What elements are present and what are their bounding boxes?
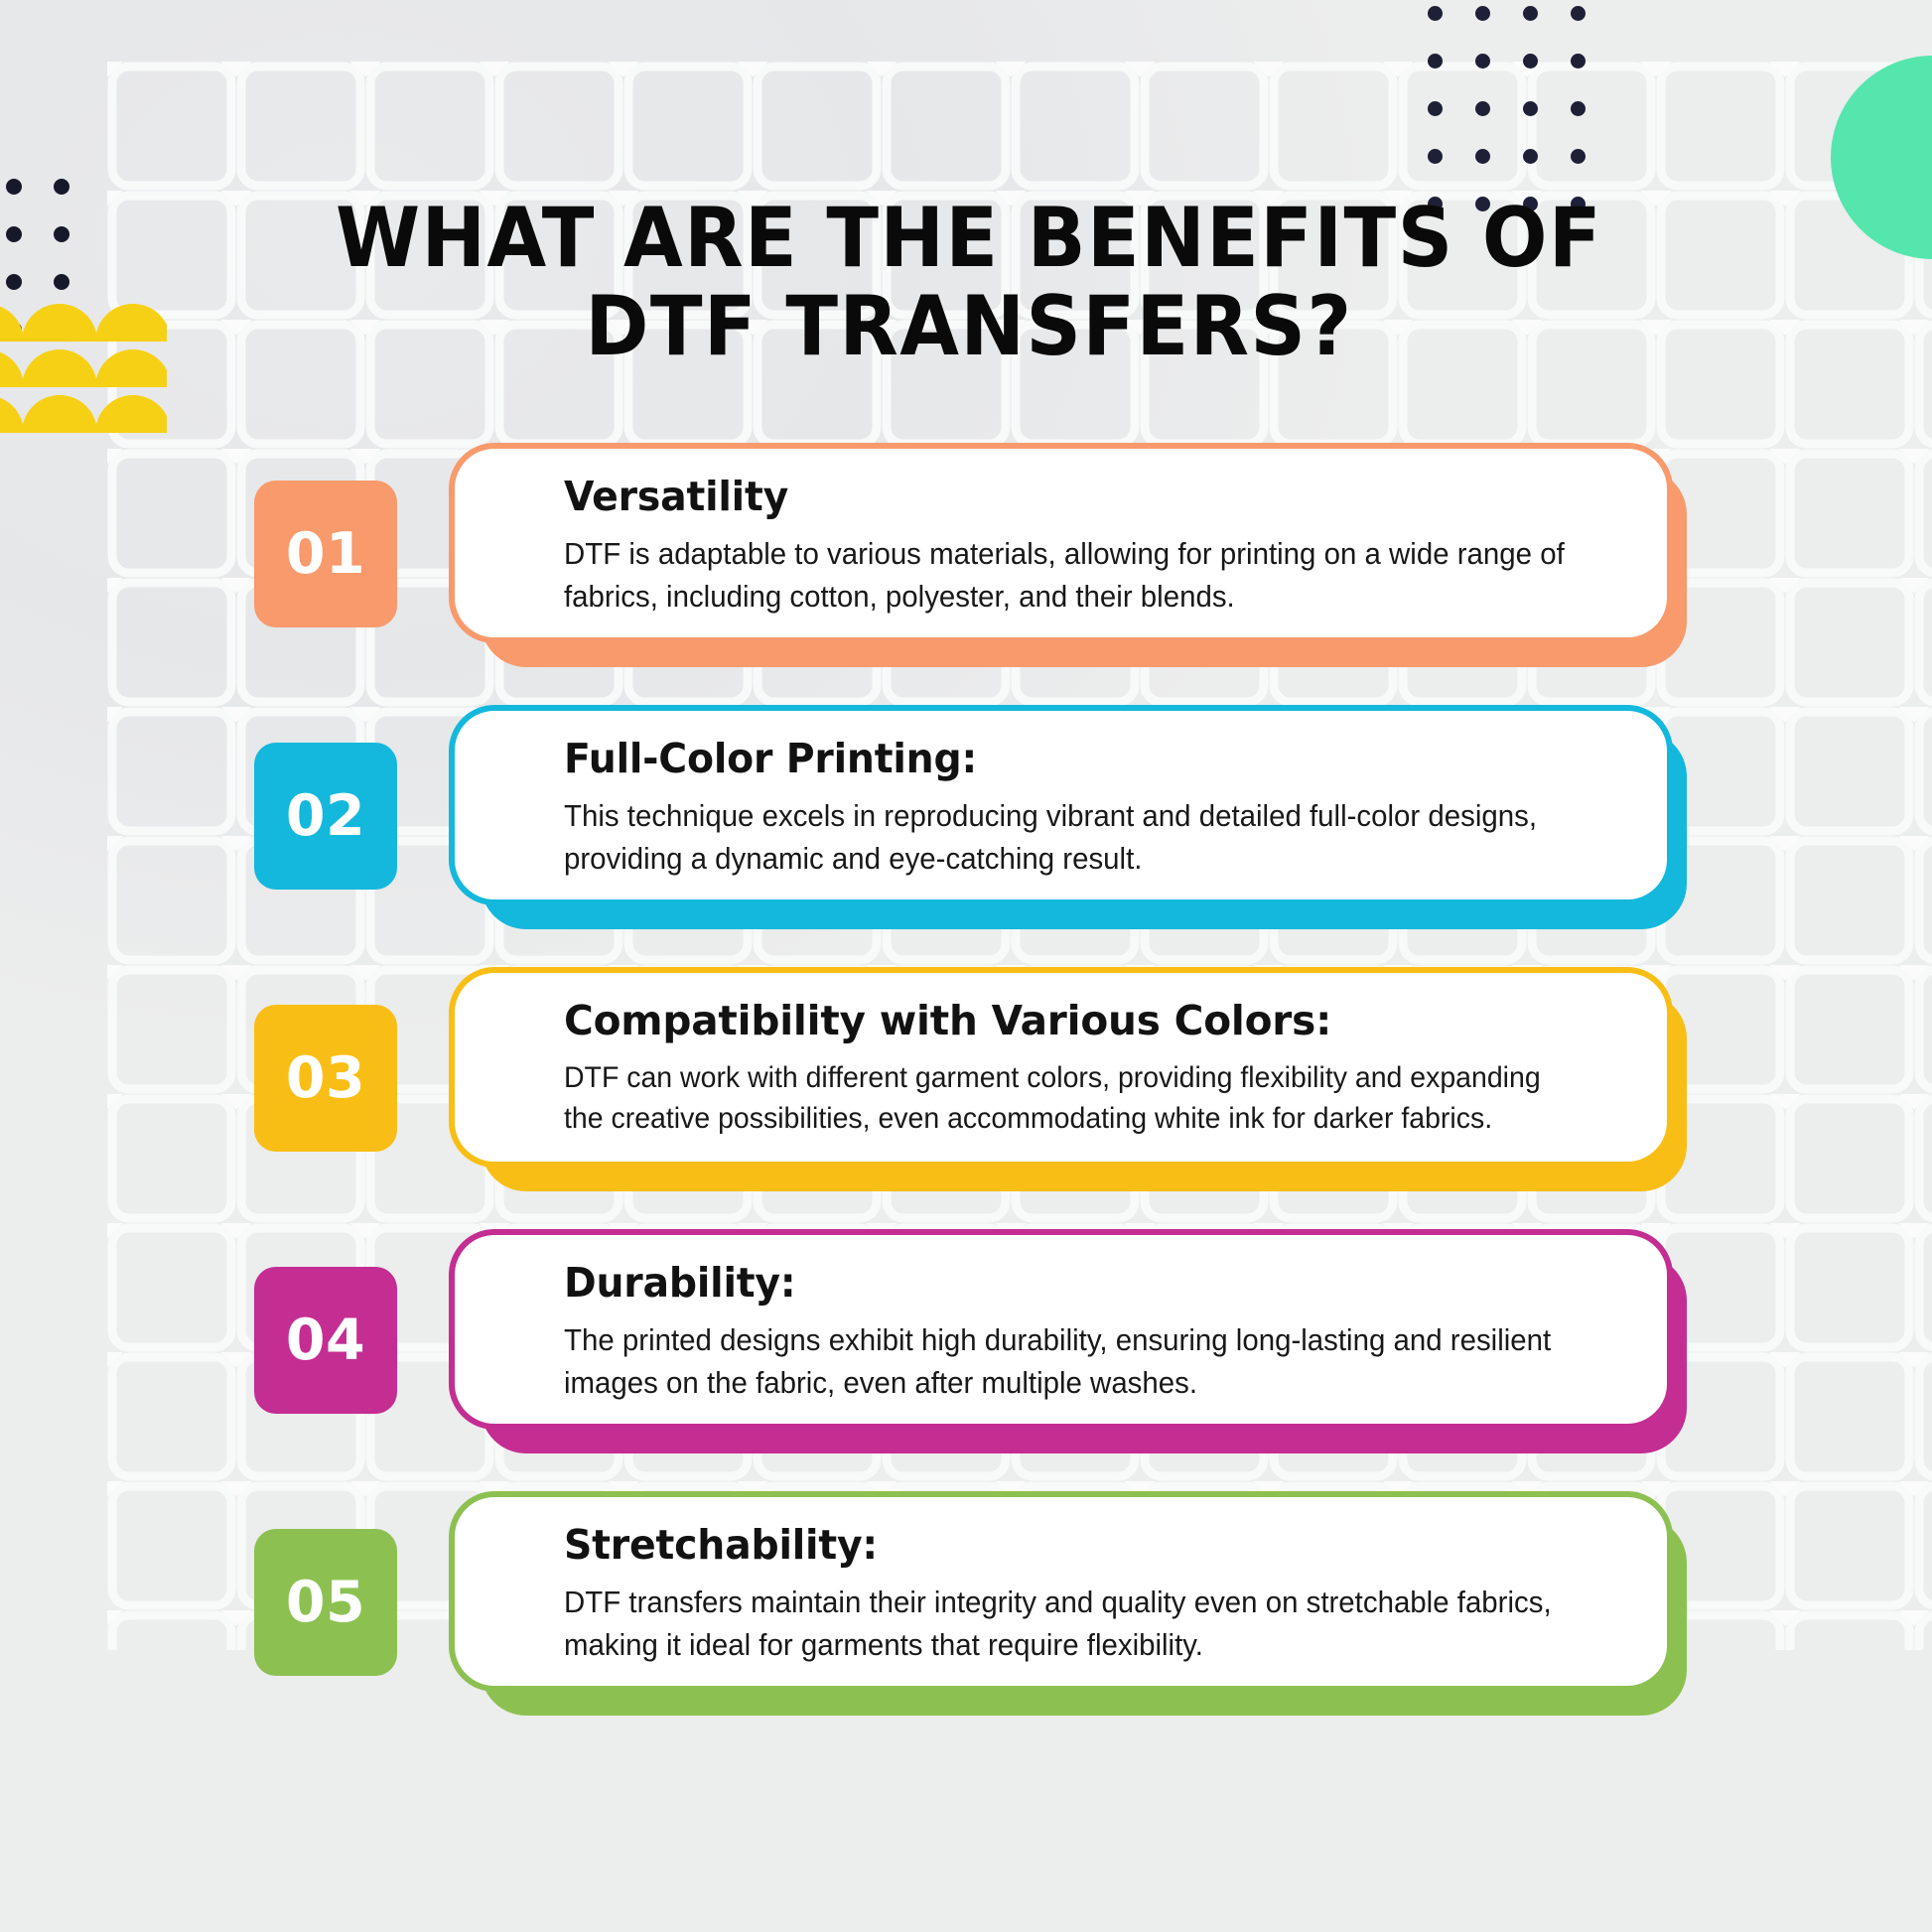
card-number-badge: 05 — [254, 1529, 397, 1676]
card-panel[interactable]: VersatilityDTF is adaptable to various m… — [449, 443, 1673, 643]
card-number-badge: 02 — [254, 743, 397, 890]
decorative-dot — [1475, 6, 1490, 21]
card-text-block: VersatilityDTF is adaptable to various m… — [564, 475, 1615, 618]
decorative-dot — [1571, 101, 1586, 116]
decorative-dot — [6, 179, 22, 195]
card-number-badge: 03 — [254, 1005, 397, 1152]
decorative-semicircle — [95, 349, 167, 387]
page-title: WHAT ARE THE BENEFITS OF DTF TRANSFERS? — [286, 195, 1652, 371]
decorative-dot — [54, 274, 69, 290]
card-number-badge: 01 — [254, 481, 397, 627]
card-description: DTF is adaptable to various materials, a… — [564, 533, 1579, 618]
card-title: Durability: — [564, 1261, 1574, 1306]
decorative-dot — [1475, 101, 1490, 116]
card-panel[interactable]: Full-Color Printing:This technique excel… — [449, 705, 1673, 905]
decorative-dot — [1428, 101, 1443, 116]
decorative-semicircle — [95, 395, 167, 433]
decorative-semicircle — [22, 395, 97, 433]
decorative-dot — [1428, 54, 1443, 69]
card-title: Compatibility with Various Colors: — [564, 999, 1604, 1043]
card-description: The printed designs exhibit high durabil… — [564, 1319, 1579, 1404]
decorative-dot — [1571, 6, 1586, 21]
benefit-card[interactable]: VersatilityDTF is adaptable to various m… — [0, 443, 1932, 653]
decorative-dot — [1571, 149, 1586, 164]
decorative-dot — [1523, 54, 1538, 69]
decorative-dot — [54, 179, 69, 195]
decorative-dot — [1571, 54, 1586, 69]
card-description: This technique excels in reproducing vib… — [564, 795, 1579, 880]
card-number-badge: 04 — [254, 1267, 397, 1414]
card-title: Stretchability: — [564, 1523, 1574, 1568]
card-description: DTF can work with different garment colo… — [564, 1057, 1579, 1140]
decorative-semicircle — [95, 304, 167, 342]
decorative-dot — [1523, 6, 1538, 21]
card-text-block: Durability:The printed designs exhibit h… — [564, 1261, 1615, 1404]
benefit-card[interactable]: Full-Color Printing:This technique excel… — [0, 705, 1932, 915]
card-text-block: Full-Color Printing:This technique excel… — [564, 737, 1615, 880]
left-semicircle-decoration — [0, 304, 167, 443]
benefit-card[interactable]: Durability:The printed designs exhibit h… — [0, 1229, 1932, 1440]
card-title: Full-Color Printing: — [564, 737, 1574, 781]
decorative-dot — [1428, 6, 1443, 21]
benefit-card[interactable]: Compatibility with Various Colors:DTF ca… — [0, 967, 1932, 1177]
decorative-dot — [6, 226, 22, 242]
benefit-card[interactable]: Stretchability:DTF transfers maintain th… — [0, 1491, 1932, 1702]
card-text-block: Compatibility with Various Colors:DTF ca… — [564, 999, 1615, 1140]
decorative-dot — [1475, 54, 1490, 69]
card-panel[interactable]: Durability:The printed designs exhibit h… — [449, 1229, 1673, 1430]
decorative-dot — [6, 274, 22, 290]
decorative-dot — [1428, 149, 1443, 164]
decorative-dot — [1523, 101, 1538, 116]
decorative-semicircle — [0, 395, 24, 433]
decorative-dot — [1475, 149, 1490, 164]
decorative-semicircle — [0, 349, 24, 387]
benefits-list: VersatilityDTF is adaptable to various m… — [0, 443, 1932, 1753]
card-description: DTF transfers maintain their integrity a… — [564, 1582, 1579, 1666]
card-title: Versatility — [564, 475, 1574, 519]
card-panel[interactable]: Stretchability:DTF transfers maintain th… — [449, 1491, 1673, 1692]
decorative-semicircle — [22, 304, 97, 342]
decorative-semicircle — [22, 349, 97, 387]
decorative-dot — [54, 226, 69, 242]
decorative-dot — [1523, 149, 1538, 164]
card-panel[interactable]: Compatibility with Various Colors:DTF ca… — [449, 967, 1673, 1168]
decorative-semicircle — [0, 304, 24, 342]
card-text-block: Stretchability:DTF transfers maintain th… — [564, 1523, 1615, 1666]
